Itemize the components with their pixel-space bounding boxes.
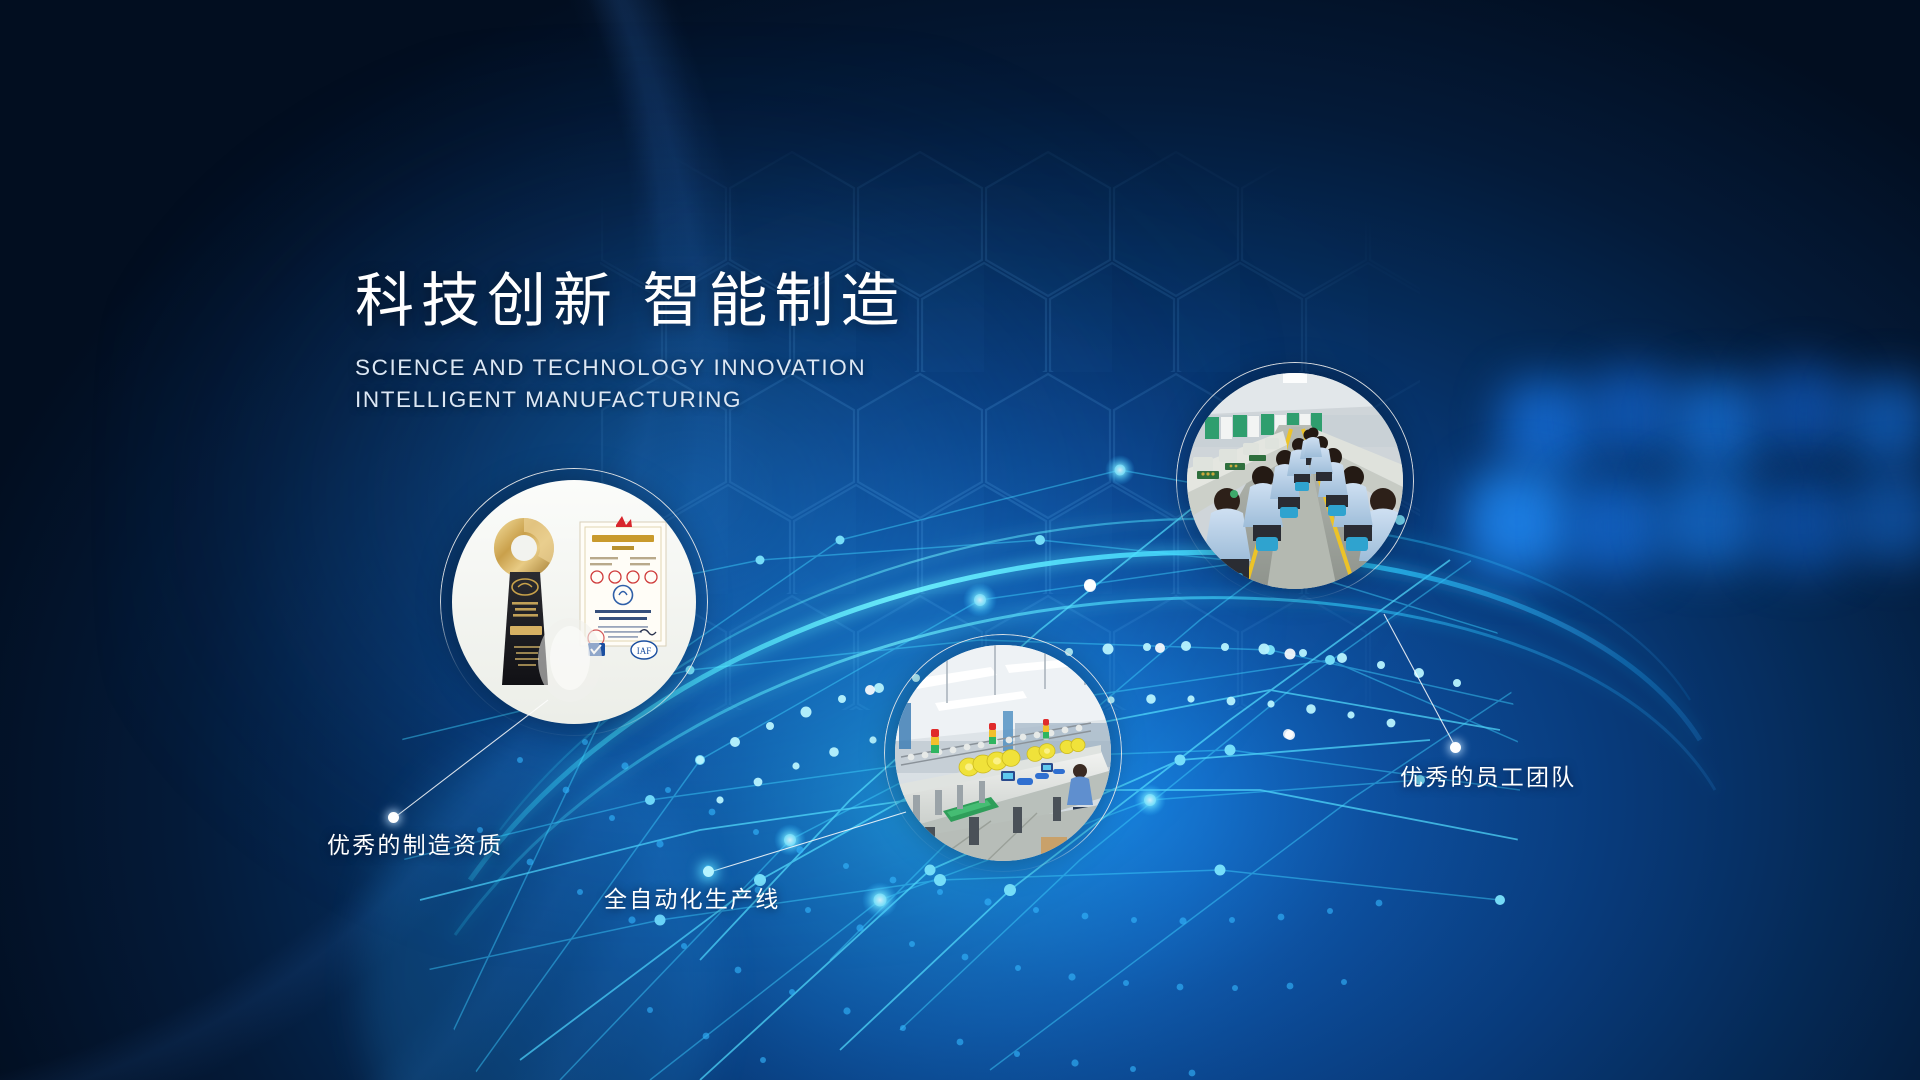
callout-line-qualification bbox=[380, 690, 560, 830]
callout-line-staff-team bbox=[1380, 608, 1470, 758]
headline-chinese: 科技创新 智能制造 bbox=[355, 268, 1115, 336]
callout-dot-production-line bbox=[703, 866, 714, 877]
headline-english-line2: INTELLIGENT MANUFACTURING bbox=[355, 384, 1115, 416]
callout-label-qualification: 优秀的制造资质 bbox=[327, 826, 503, 860]
callout-dot-qualification bbox=[388, 812, 399, 823]
bubble-photo-production-line bbox=[895, 645, 1111, 861]
bubble-photo-qualification: IAF bbox=[452, 480, 696, 724]
callout-label-production-line: 全自动化生产线 bbox=[604, 880, 780, 914]
poster-canvas: 科技创新 智能制造 SCIENCE AND TECHNOLOGY INNOVAT… bbox=[0, 0, 1920, 1080]
callout-dot-staff-team bbox=[1450, 742, 1461, 753]
callout-label-staff-team: 优秀的员工团队 bbox=[1400, 758, 1576, 792]
bubble-production-line[interactable] bbox=[884, 634, 1122, 872]
digital-globe-network bbox=[0, 0, 1920, 1080]
bubble-photo-staff-team bbox=[1187, 373, 1403, 589]
headline-block: 科技创新 智能制造 SCIENCE AND TECHNOLOGY INNOVAT… bbox=[355, 268, 1115, 416]
headline-english-line1: SCIENCE AND TECHNOLOGY INNOVATION bbox=[355, 352, 1115, 384]
callout-line-production-line bbox=[694, 806, 914, 886]
svg-text:IAF: IAF bbox=[637, 646, 652, 656]
headline-english: SCIENCE AND TECHNOLOGY INNOVATION INTELL… bbox=[355, 352, 1115, 416]
bubble-staff-team[interactable] bbox=[1176, 362, 1414, 600]
